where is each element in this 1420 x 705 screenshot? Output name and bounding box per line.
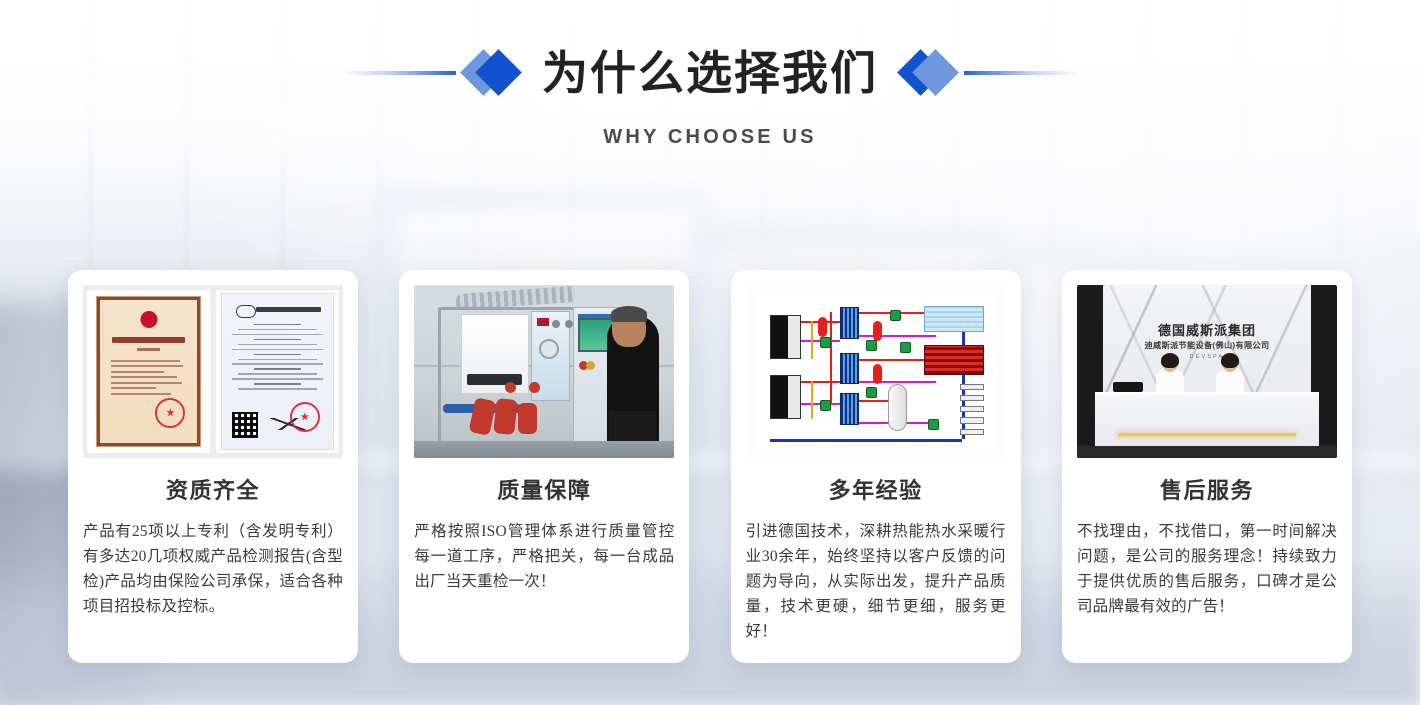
- feature-card-title: 售后服务: [1077, 480, 1337, 502]
- feature-card-text: 严格按照ISO管理体系进行质量管控每一道工序，严格把关，每一台成品出厂当天重检一…: [414, 519, 674, 594]
- certificate-left: [87, 290, 210, 453]
- hot-water-tank-icon: [888, 384, 907, 431]
- desk-monitor: [1113, 382, 1143, 392]
- feature-card-text: 不找理由，不找借口，第一时间解决问题，是公司的服务理念！持续致力于提供优质的售后…: [1077, 519, 1337, 619]
- piping-schematic-image: [746, 285, 1006, 458]
- red-pipe: [493, 398, 517, 435]
- feature-card-text: 产品有25项以上专利（含发明专利）有多达20几项权威产品检测报告(含型检)产品均…: [83, 519, 343, 619]
- pump-icon: [928, 419, 939, 430]
- feature-card-quality[interactable]: 质量保障 严格按照ISO管理体系进行质量管控每一道工序，严格把关，每一台成品出厂…: [399, 270, 689, 663]
- floor-heating-coil-icon: [924, 345, 984, 375]
- decorative-rule-right: [964, 71, 1080, 75]
- page-title: 为什么选择我们: [520, 50, 900, 96]
- certificate-left-subtitle: [137, 348, 160, 351]
- knob-icon: [552, 320, 560, 328]
- boiler-lower-icon: [770, 375, 801, 419]
- radiator-group-icon: [960, 384, 984, 428]
- decorative-rule-left: [340, 71, 456, 75]
- qr-code-icon: [232, 412, 258, 438]
- duct-icon: [456, 286, 576, 310]
- red-pipe: [518, 403, 536, 434]
- return-pipe: [859, 381, 936, 383]
- plate-heat-exchanger-icon: [840, 353, 859, 384]
- certificate-right: [216, 290, 339, 453]
- expansion-vessel-icon: [873, 321, 882, 341]
- diamond-pair-right-icon: [900, 45, 956, 101]
- red-seal-icon: [155, 398, 185, 428]
- expansion-vessel-icon: [873, 364, 882, 384]
- feature-card-experience[interactable]: 多年经验 引进德国技术，深耕热能热水采暖行业30余年，始终坚持以客户反馈的问题为…: [731, 270, 1021, 663]
- feature-card-after-sales[interactable]: 德国威斯派集团 迪威斯派节能设备(佛山)有限公司 DEVSPA 售后服务 不找理…: [1062, 270, 1352, 663]
- plate-heat-exchanger-icon: [840, 393, 859, 424]
- plate-heat-exchanger-icon: [840, 307, 859, 338]
- pump-icon: [866, 387, 877, 398]
- certificates-image: [83, 285, 343, 458]
- supply-riser: [830, 312, 832, 403]
- pump-icon: [820, 337, 831, 348]
- feature-card-text: 引进德国技术，深耕热能热水采暖行业30余年，始终坚持以客户反馈的问题为导向，从实…: [746, 519, 1006, 645]
- supply-pipe: [801, 381, 839, 383]
- section-header: 为什么选择我们 WHY CHOOSE US: [0, 42, 1420, 149]
- boiler-upper-icon: [770, 315, 801, 359]
- feature-card-list: 资质齐全 产品有25项以上专利（含发明专利）有多达20几项权威产品检测报告(含型…: [68, 270, 1352, 663]
- gas-pipe: [811, 381, 813, 419]
- return-pipe: [859, 335, 936, 337]
- pump-icon: [900, 342, 911, 353]
- pump-icon: [866, 340, 877, 351]
- reception-brand-text: 德国威斯派集团: [1077, 320, 1337, 339]
- why-choose-us-section: 为什么选择我们 WHY CHOOSE US: [0, 0, 1420, 705]
- knob-icon: [565, 320, 573, 328]
- gas-pipe: [811, 321, 813, 359]
- ccc-mark-icon: [236, 305, 256, 318]
- diamond-pair-left-icon: [464, 45, 520, 101]
- pump-icon: [890, 310, 901, 321]
- reception-counter: [1095, 392, 1319, 447]
- schematic-canvas: [756, 293, 996, 450]
- technician-head: [612, 309, 646, 347]
- feature-card-qualifications[interactable]: 资质齐全 产品有25项以上专利（含发明专利）有多达20几项权威产品检测报告(含型…: [68, 270, 358, 663]
- feature-card-title: 资质齐全: [83, 480, 343, 502]
- reception-company-text: 迪威斯派节能设备(佛山)有限公司: [1077, 339, 1337, 351]
- swimming-pool-icon: [924, 306, 984, 333]
- floor: [414, 441, 674, 458]
- floor: [1077, 446, 1337, 458]
- national-emblem-icon: [140, 311, 157, 328]
- factory-test-rig-image: [414, 285, 674, 458]
- wall-hung-boiler: [461, 314, 529, 394]
- feature-card-title: 质量保障: [414, 480, 674, 502]
- expansion-vessel-icon: [818, 317, 827, 337]
- indicator-light-icon: [537, 318, 549, 326]
- page-subtitle: WHY CHOOSE US: [603, 126, 816, 149]
- pump-icon: [820, 400, 831, 411]
- reception-logos-text: DEVSPA: [1077, 354, 1337, 360]
- reception-desk-image: 德国威斯派集团 迪威斯派节能设备(佛山)有限公司 DEVSPA: [1077, 285, 1337, 458]
- red-seal-icon: [290, 402, 320, 432]
- cold-water-main: [770, 439, 962, 442]
- certificate-right-body: [232, 324, 323, 391]
- pressure-gauge-icon: [539, 339, 559, 359]
- certificate-left-body: [111, 360, 187, 395]
- title-row: 为什么选择我们: [340, 42, 1080, 104]
- certificate-left-title: [112, 337, 186, 343]
- certificate-right-title: [256, 307, 320, 312]
- valve-icon: [529, 382, 540, 393]
- feature-card-title: 多年经验: [746, 480, 1006, 502]
- selector-button-icon: [586, 361, 595, 370]
